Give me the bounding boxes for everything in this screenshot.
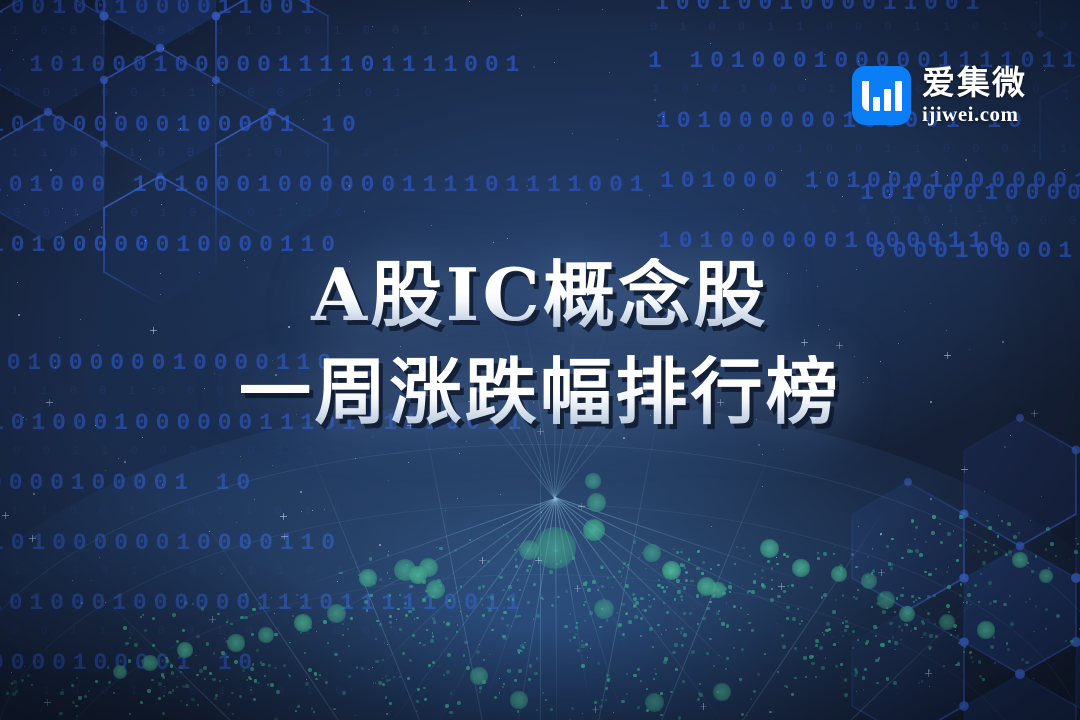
globe-dot: [565, 590, 568, 593]
globe-dot: [416, 700, 420, 704]
globe-dot: [980, 573, 982, 575]
globe-dot: [844, 629, 847, 632]
star-speck: [979, 225, 980, 226]
star-speck: [976, 513, 977, 514]
globe-dot: [203, 666, 207, 670]
star-speck: [271, 539, 272, 540]
globe-dot: [962, 512, 966, 516]
globe-dot: [108, 681, 111, 684]
globe-dot: [655, 673, 657, 675]
globe-dot: [276, 690, 280, 694]
star-speck: [62, 208, 63, 209]
globe-dot: [172, 689, 175, 692]
star-speck: [613, 712, 614, 713]
globe-dot: [455, 587, 458, 590]
globe-dot: [213, 652, 216, 655]
globe-dot: [946, 604, 950, 608]
globe-dot: [226, 656, 229, 659]
globe-dot: [464, 641, 467, 644]
globe-dot: [408, 610, 411, 613]
star-sparkle: [283, 513, 284, 520]
star-speck: [783, 449, 784, 450]
star-speck: [824, 54, 825, 55]
globe-dot: [627, 564, 629, 566]
globe-dot: [927, 595, 931, 599]
network-beam: [483, 498, 556, 708]
globe-dot: [1027, 562, 1029, 564]
globe-dot: [446, 670, 450, 674]
star-speck: [762, 486, 763, 487]
globe-dot: [1031, 570, 1034, 573]
globe-dot: [819, 646, 823, 650]
star-speck: [743, 209, 744, 210]
globe-dot: [479, 691, 481, 693]
globe-dot: [620, 582, 622, 584]
network-node: [643, 544, 660, 561]
globe-dot: [534, 672, 537, 675]
star-sparkle: [5, 512, 6, 519]
globe-dot: [384, 642, 386, 644]
globe-dot: [592, 580, 596, 584]
globe-dot: [230, 623, 233, 626]
star-speck: [62, 28, 63, 29]
network-node: [359, 569, 376, 586]
star-speck: [161, 204, 162, 205]
globe-dot: [518, 615, 520, 617]
globe-dot: [123, 670, 126, 673]
globe-dot: [901, 629, 904, 632]
globe-dot: [375, 660, 379, 664]
star-speck: [372, 26, 373, 27]
network-node: [939, 614, 954, 629]
globe-dot: [896, 597, 898, 599]
star-sparkle: [961, 469, 968, 470]
star-speck: [830, 632, 831, 633]
globe-dot: [508, 599, 510, 601]
binary-code-row: 1 0 0 1 0 0 1 1 0 0 0 1 1 0 1: [0, 86, 409, 100]
globe-dot: [519, 589, 521, 591]
globe-dot: [786, 555, 789, 558]
globe-dot: [1035, 605, 1037, 607]
globe-dot: [551, 604, 554, 607]
globe-dot: [585, 535, 588, 538]
globe-dot: [385, 696, 387, 698]
globe-dot: [676, 628, 678, 630]
globe-dot: [726, 602, 728, 604]
globe-dot: [219, 680, 222, 683]
globe-dot: [482, 614, 485, 617]
star-speck: [50, 169, 52, 171]
globe-dot: [231, 692, 234, 695]
globe-dot: [618, 570, 622, 574]
globe-dot: [842, 622, 844, 624]
globe-dot: [443, 621, 445, 623]
star-speck: [99, 557, 100, 558]
globe-dot: [718, 655, 720, 657]
globe-dot: [289, 675, 291, 677]
globe-dot: [161, 673, 164, 676]
globe-dot: [601, 699, 603, 701]
globe-dot: [675, 668, 678, 671]
network-node: [713, 683, 730, 700]
globe-dot: [682, 680, 686, 684]
star-speck: [503, 524, 504, 525]
globe-dot: [389, 594, 391, 596]
star-speck: [654, 99, 656, 101]
star-speck: [339, 83, 340, 84]
star-speck: [777, 623, 778, 624]
star-speck: [396, 619, 397, 620]
star-sparkle: [592, 709, 599, 710]
star-speck: [781, 170, 782, 171]
star-speck: [180, 128, 181, 129]
globe-dot: [217, 613, 219, 615]
globe-dot: [702, 561, 704, 563]
globe-dot: [974, 524, 976, 526]
globe-dot: [826, 622, 830, 626]
globe-dot: [691, 650, 695, 654]
globe-dot: [283, 664, 286, 667]
globe-dot: [733, 647, 735, 649]
globe-dot: [597, 662, 600, 665]
globe-dot: [618, 623, 622, 627]
globe-dot: [59, 712, 63, 716]
globe-dot: [502, 635, 506, 639]
star-sparkle: [595, 706, 596, 713]
globe-dot: [581, 644, 585, 648]
globe-dot: [706, 652, 709, 655]
globe-dot: [448, 599, 451, 602]
globe-dot: [458, 601, 460, 603]
globe-dot: [576, 622, 578, 624]
network-beam: [555, 497, 721, 619]
globe-dot: [341, 572, 343, 574]
star-speck: [788, 245, 790, 247]
globe-dot: [1006, 642, 1008, 644]
globe-dot: [606, 619, 608, 621]
star-sparkle: [280, 516, 287, 517]
globe-dot: [1013, 535, 1017, 539]
globe-dot: [979, 675, 982, 678]
globe-dot: [622, 567, 624, 569]
globe-dot: [1045, 628, 1047, 630]
globe-dot: [642, 609, 644, 611]
globe-dot: [681, 644, 683, 646]
globe-dot: [71, 684, 74, 687]
star-speck: [889, 194, 890, 195]
star-speck: [379, 544, 381, 546]
binary-code-row: 10100010000001110111110011: [860, 180, 1080, 206]
globe-dot: [1007, 522, 1011, 526]
globe-dot: [810, 586, 813, 589]
globe-dot: [934, 623, 936, 625]
binary-code-row: 1001001000011001: [0, 0, 321, 20]
globe-dot: [734, 563, 736, 565]
star-speck: [77, 214, 78, 215]
globe-dot: [990, 645, 994, 649]
globe-dot: [862, 676, 866, 680]
globe-dot: [933, 594, 936, 597]
globe-dot: [681, 599, 683, 601]
globe-dot: [512, 598, 514, 600]
globe-dot: [419, 642, 421, 644]
globe-dot: [414, 618, 416, 620]
globe-dot: [791, 584, 794, 587]
star-sparkle: [781, 583, 782, 590]
globe-dot: [963, 651, 965, 653]
globe-dot: [670, 691, 673, 694]
globe-dot: [342, 634, 344, 636]
globe-dot: [1008, 550, 1012, 554]
globe-dot: [927, 612, 931, 616]
network-beam: [555, 498, 631, 656]
globe-dot: [872, 569, 876, 573]
globe-dot: [587, 588, 591, 592]
globe-dot: [599, 626, 601, 628]
globe-dot: [347, 628, 349, 630]
globe-dot: [184, 601, 188, 605]
binary-code-row: 1 0 0 1 1 0 1 0 0 0 1 1 0: [654, 202, 1020, 216]
globe-dot: [244, 616, 248, 620]
globe-dot: [924, 571, 926, 573]
globe-dot: [863, 689, 865, 691]
globe-dot: [416, 710, 418, 712]
globe-dot: [457, 624, 459, 626]
globe-dot: [682, 564, 685, 567]
globe-dot: [725, 668, 727, 670]
globe-dot: [746, 715, 748, 717]
globe-dot: [457, 701, 461, 705]
globe-dot: [685, 571, 688, 574]
globe-dot: [508, 585, 512, 589]
globe-dot: [536, 709, 538, 711]
globe-dot: [258, 603, 261, 606]
globe-dot: [1046, 527, 1050, 531]
star-sparkle: [578, 506, 585, 507]
star-sparkle: [881, 569, 882, 576]
globe-dot: [13, 680, 17, 684]
globe-dot: [791, 693, 795, 697]
globe-dot: [728, 585, 731, 588]
globe-dot: [888, 640, 890, 642]
globe-dot: [825, 629, 828, 632]
globe-dot: [466, 615, 468, 617]
globe-dot: [910, 630, 912, 632]
globe-dot: [767, 560, 770, 563]
globe-dot: [424, 698, 427, 701]
star-speck: [189, 155, 190, 156]
title-line-1: A股IC概念股: [0, 258, 1080, 331]
globe-dot: [959, 515, 962, 518]
star-speck: [834, 546, 835, 547]
globe-dot: [607, 678, 610, 681]
network-beam: [555, 498, 557, 720]
globe-dot: [776, 563, 779, 566]
star-speck: [509, 590, 510, 591]
globe-dot: [931, 531, 935, 535]
globe-dot: [170, 664, 174, 668]
globe-dot: [840, 663, 843, 666]
globe-dot: [664, 657, 668, 661]
star-speck: [355, 715, 356, 716]
network-node: [426, 580, 445, 599]
star-speck: [296, 203, 297, 204]
globe-dot: [661, 586, 664, 589]
globe-dot: [176, 686, 178, 688]
globe-dot: [966, 539, 968, 541]
globe-dot: [1050, 542, 1054, 546]
globe-dot: [564, 625, 568, 629]
network-node: [861, 573, 876, 588]
globe-dot: [11, 682, 14, 685]
globe-dot: [928, 669, 930, 671]
globe-dot: [677, 590, 680, 593]
globe-dot: [823, 633, 826, 636]
globe-dot: [583, 604, 586, 607]
star-speck: [984, 491, 985, 492]
network-beam: [379, 498, 556, 720]
globe-dot: [584, 620, 587, 623]
globe-dot: [997, 535, 999, 537]
globe-dot: [815, 644, 818, 647]
globe-dot: [637, 668, 640, 671]
globe-dot: [854, 674, 857, 677]
globe-dot: [904, 623, 907, 626]
globe-dot: [1056, 614, 1060, 618]
globe-dot: [894, 611, 896, 613]
star-speck: [663, 116, 664, 117]
globe-dot: [573, 636, 576, 639]
globe-dot: [928, 646, 932, 650]
globe-dot: [76, 715, 78, 717]
globe-dot: [719, 618, 721, 620]
globe-dot: [348, 605, 350, 607]
globe-dot: [399, 594, 401, 596]
globe-dot: [754, 573, 756, 575]
star-speck: [372, 667, 373, 668]
network-node: [760, 539, 779, 558]
globe-dot: [499, 576, 502, 579]
globe-dot: [825, 657, 827, 659]
globe-dot: [251, 633, 254, 636]
globe-dot: [701, 595, 703, 597]
globe-dot: [204, 678, 206, 680]
globe-dot: [852, 630, 855, 633]
globe-dot: [528, 678, 531, 681]
globe-dot: [910, 550, 913, 553]
globe-dot: [967, 593, 971, 597]
globe-dot: [857, 589, 859, 591]
globe-dot: [733, 605, 736, 608]
star-speck: [563, 508, 564, 509]
star-speck: [822, 632, 823, 633]
globe-dot: [654, 668, 656, 670]
star-speck: [222, 148, 223, 149]
network-beam: [431, 498, 555, 720]
star-speck: [697, 84, 698, 85]
network-node: [394, 559, 417, 582]
star-speck: [587, 657, 588, 658]
globe-dot: [959, 544, 962, 547]
network-node: [977, 621, 994, 638]
brand-text: 爱集微 ijiwei.com: [922, 66, 1027, 125]
globe-dot: [405, 614, 408, 617]
star-sparkle: [29, 538, 36, 539]
star-speck: [81, 602, 83, 604]
star-speck: [431, 225, 432, 226]
star-speck: [762, 454, 763, 455]
globe-dot: [176, 640, 180, 644]
star-speck: [61, 51, 62, 52]
globe-dot: [197, 704, 199, 706]
globe-dot: [787, 585, 789, 587]
globe-dot: [520, 644, 524, 648]
globe-dot: [432, 632, 434, 634]
binary-code-row: 101000 1010001000000111101111001: [660, 168, 1080, 194]
globe-dot: [803, 656, 807, 660]
globe-dot: [797, 608, 799, 610]
globe-dot: [542, 598, 544, 600]
globe-dot: [878, 657, 880, 659]
globe-dot: [1021, 658, 1024, 661]
star-speck: [930, 498, 932, 500]
globe-dot: [898, 625, 901, 628]
globe-dot: [665, 576, 667, 578]
globe-dot: [246, 679, 248, 681]
globe-dot: [761, 583, 764, 586]
star-speck: [623, 437, 625, 439]
globe-dot: [935, 635, 938, 638]
globe-dot: [922, 622, 925, 625]
globe-dot: [1003, 603, 1007, 607]
globe-dot: [373, 582, 375, 584]
globe-dot: [982, 678, 985, 681]
star-speck: [145, 240, 146, 241]
brand-logo[interactable]: 爱集微 ijiwei.com: [852, 66, 1027, 125]
star-speck: [372, 436, 373, 437]
globe-dot: [517, 710, 519, 712]
globe-dot: [657, 624, 660, 627]
globe-dot: [253, 698, 256, 701]
network-node: [877, 591, 894, 608]
globe-dot: [921, 680, 924, 683]
globe-dot: [536, 657, 538, 659]
star-speck: [392, 47, 393, 48]
binary-code-row: 101000000100001 10: [0, 112, 363, 138]
globe-dot: [748, 590, 751, 593]
globe-dot: [432, 617, 436, 621]
globe-dot: [369, 557, 373, 561]
star-speck: [894, 223, 895, 224]
globe-dot: [1048, 567, 1050, 569]
globe-dot: [589, 611, 593, 615]
hex-cluster-bottom-right: [790, 410, 1080, 720]
globe-dot: [851, 553, 854, 556]
binary-code-row: 0 1 1 0 0 1 0 0 1 1 0 1 0: [0, 684, 350, 698]
globe-dot: [407, 677, 410, 680]
star-speck: [507, 238, 508, 239]
globe-dot: [144, 629, 147, 632]
globe-dot: [257, 682, 259, 684]
globe-dot: [805, 647, 808, 650]
globe-dot: [323, 620, 327, 624]
globe-dot: [978, 601, 980, 603]
globe-dot: [881, 643, 885, 647]
star-sparkle: [577, 585, 578, 592]
globe-dot: [214, 697, 217, 700]
star-sparkle: [32, 535, 33, 542]
globe-dot: [623, 562, 626, 565]
